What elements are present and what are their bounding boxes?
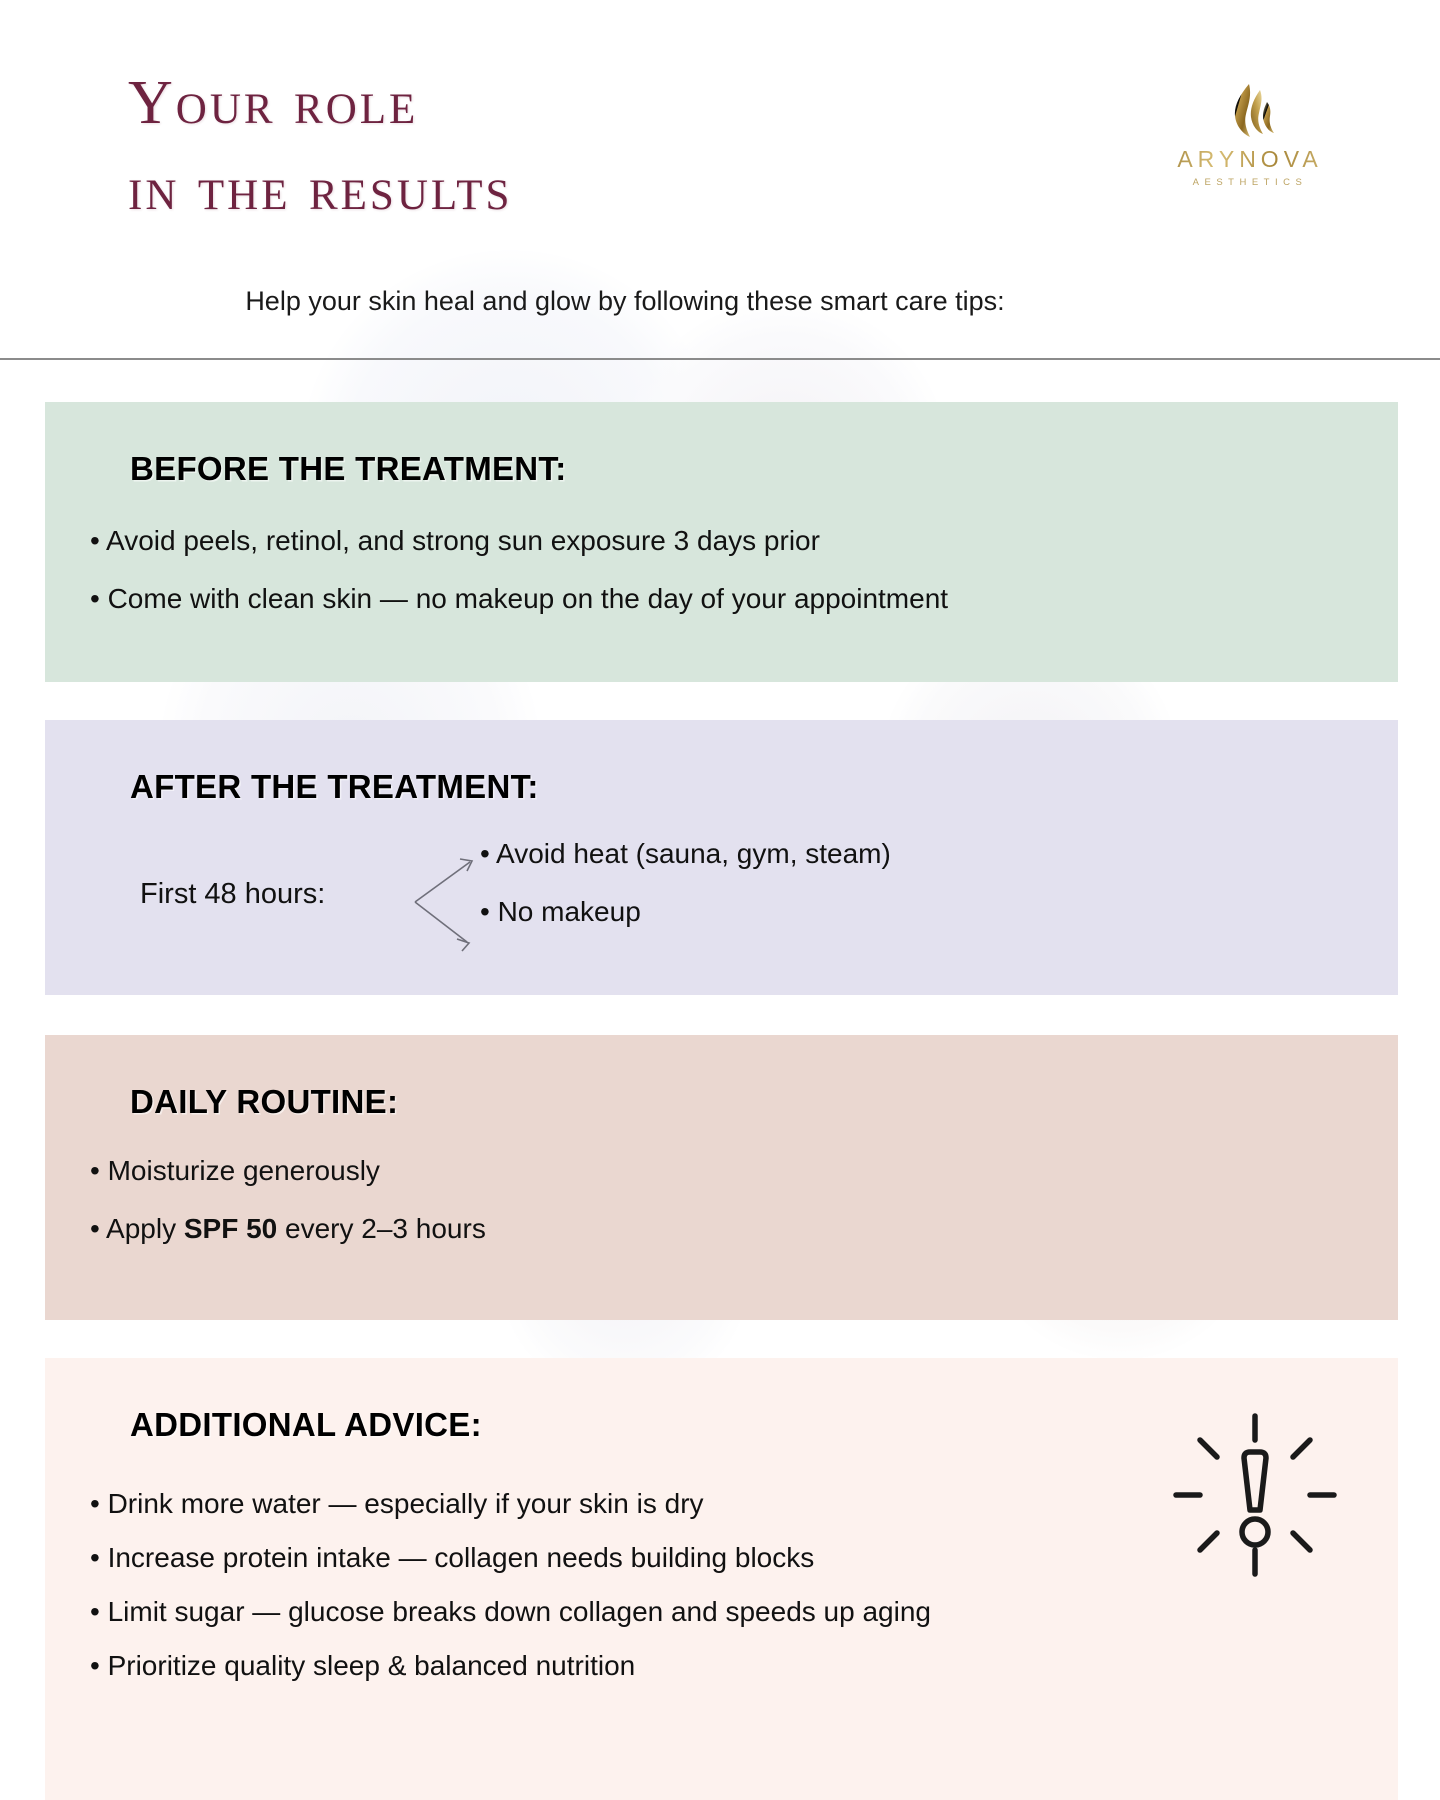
page-title: Your role in the results xyxy=(128,60,512,232)
list-item: • Avoid heat (sauna, gym, steam) xyxy=(480,840,891,868)
bullet-list-advice: • Drink more water — especially if your … xyxy=(90,1490,931,1680)
bullet-list-daily: • Moisturize generously • Apply SPF 50 e… xyxy=(90,1157,486,1243)
list-item: • Apply SPF 50 every 2–3 hours xyxy=(90,1215,486,1243)
section-after-treatment: AFTER THE TREATMENT: First 48 hours: • A… xyxy=(45,720,1398,995)
brand-logo: ARYNOVA AESTHETICS xyxy=(1140,82,1360,188)
list-item: • Drink more water — especially if your … xyxy=(90,1490,931,1518)
section-heading-after: AFTER THE TREATMENT: xyxy=(130,768,539,806)
list-item: • Come with clean skin — no makeup on th… xyxy=(90,585,948,613)
logo-tagline: AESTHETICS xyxy=(1140,177,1360,188)
page-subtitle: Help your skin heal and glow by followin… xyxy=(0,286,1250,317)
list-item: • Moisturize generously xyxy=(90,1157,486,1185)
list-item-text: • Apply xyxy=(90,1213,184,1244)
section-heading-daily: DAILY ROUTINE: xyxy=(130,1083,398,1121)
bullet-list-before: • Avoid peels, retinol, and strong sun e… xyxy=(90,527,948,613)
list-item: • Increase protein intake — collagen nee… xyxy=(90,1544,931,1572)
section-heading-before: BEFORE THE TREATMENT: xyxy=(130,450,567,488)
logo-wordmark: ARYNOVA xyxy=(1140,146,1360,173)
flyer-page: Your role in the results xyxy=(0,0,1440,1800)
header-divider xyxy=(0,358,1440,360)
section-daily-routine: DAILY ROUTINE: • Moisturize generously •… xyxy=(45,1035,1398,1320)
list-item-text: • Moisturize generously xyxy=(90,1155,380,1186)
list-item: • Limit sugar — glucose breaks down coll… xyxy=(90,1598,931,1626)
list-item-text-tail: every 2–3 hours xyxy=(277,1213,486,1244)
section-heading-advice: ADDITIONAL ADVICE: xyxy=(130,1406,482,1444)
list-item-emphasis: SPF 50 xyxy=(184,1213,277,1244)
list-item: • Avoid peels, retinol, and strong sun e… xyxy=(90,527,948,555)
list-item: • No makeup xyxy=(480,898,891,926)
section-additional-advice: ADDITIONAL ADVICE: • Drink more water — xyxy=(45,1358,1398,1800)
first-48-hours-group: First 48 hours: • Avoid heat (sauna, gym… xyxy=(95,840,1095,965)
gold-flame-icon xyxy=(1140,82,1360,140)
section-before-treatment: BEFORE THE TREATMENT: • Avoid peels, ret… xyxy=(45,402,1398,682)
exclamation-burst-icon xyxy=(1170,1410,1340,1580)
bullet-list-after: • Avoid heat (sauna, gym, steam) • No ma… xyxy=(480,840,891,926)
page-header: Your role in the results xyxy=(0,0,1440,360)
list-item: • Prioritize quality sleep & balanced nu… xyxy=(90,1652,931,1680)
